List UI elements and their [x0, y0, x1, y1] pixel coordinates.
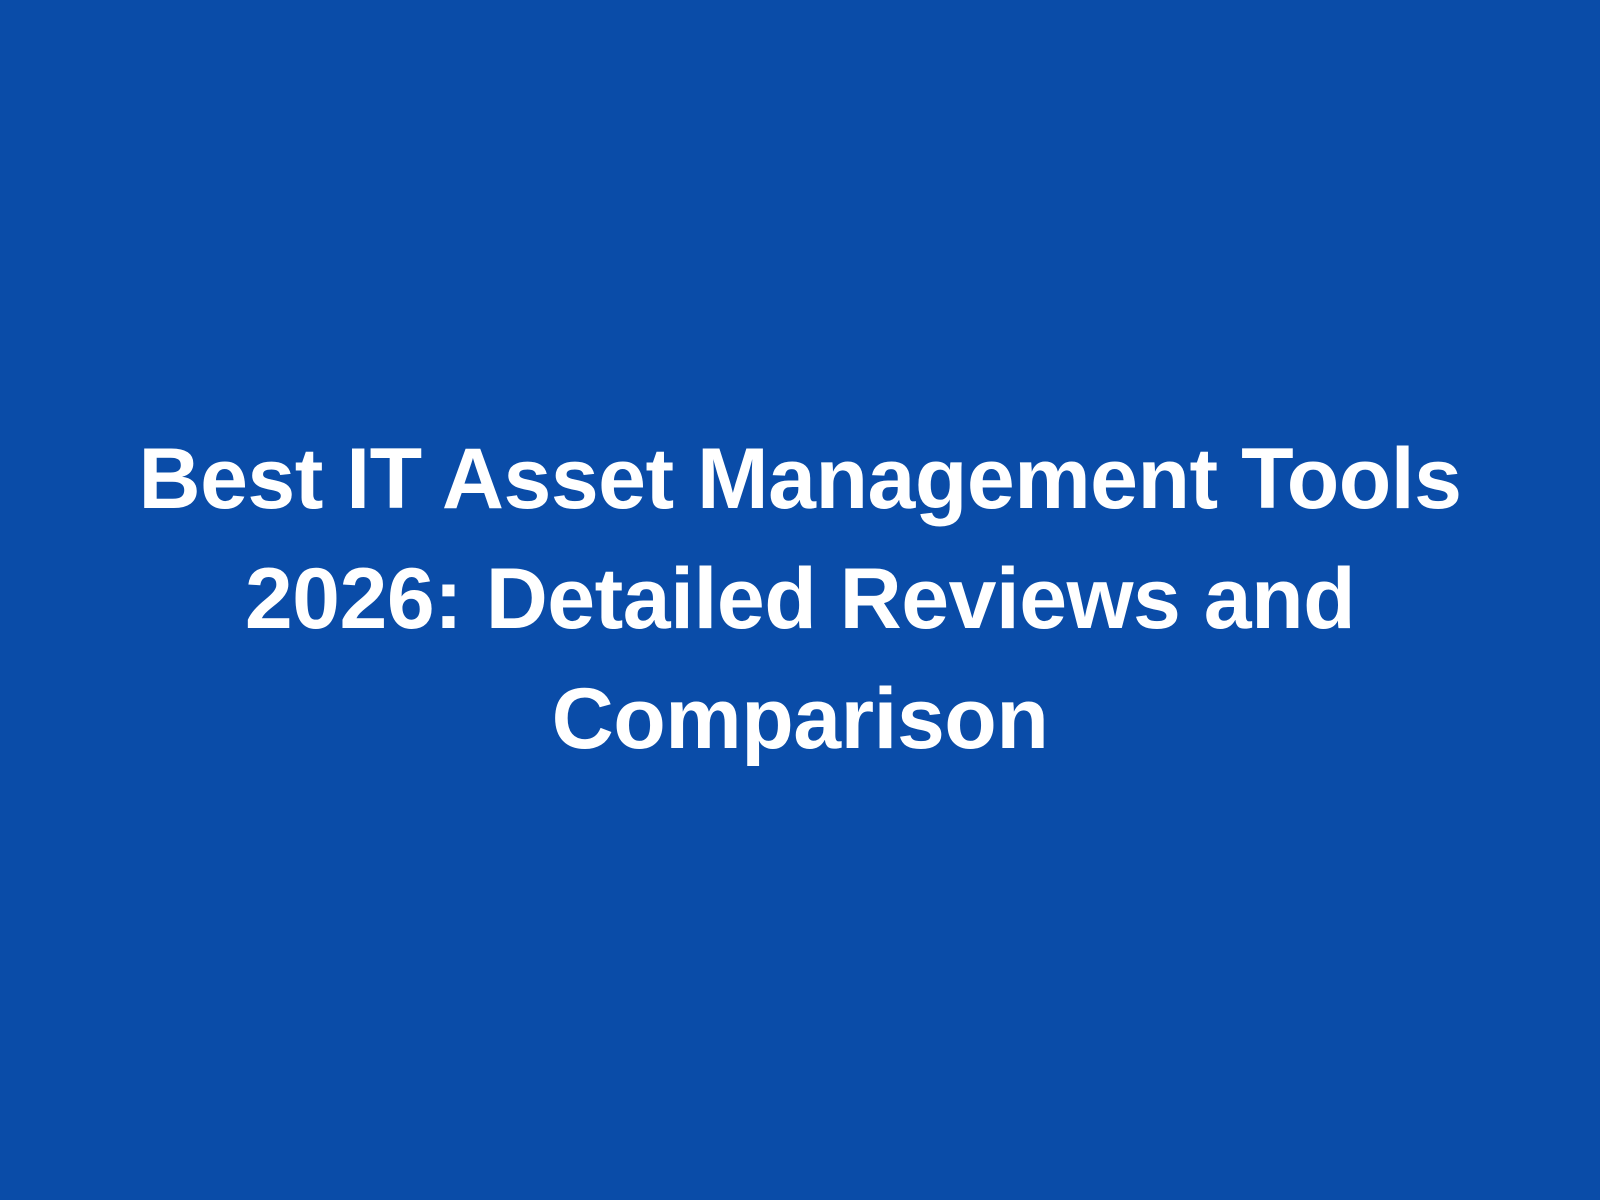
title-card: Best IT Asset Management Tools 2026: Det…	[0, 0, 1600, 1200]
page-title: Best IT Asset Management Tools 2026: Det…	[60, 419, 1540, 779]
headline-block: Best IT Asset Management Tools 2026: Det…	[60, 419, 1540, 779]
